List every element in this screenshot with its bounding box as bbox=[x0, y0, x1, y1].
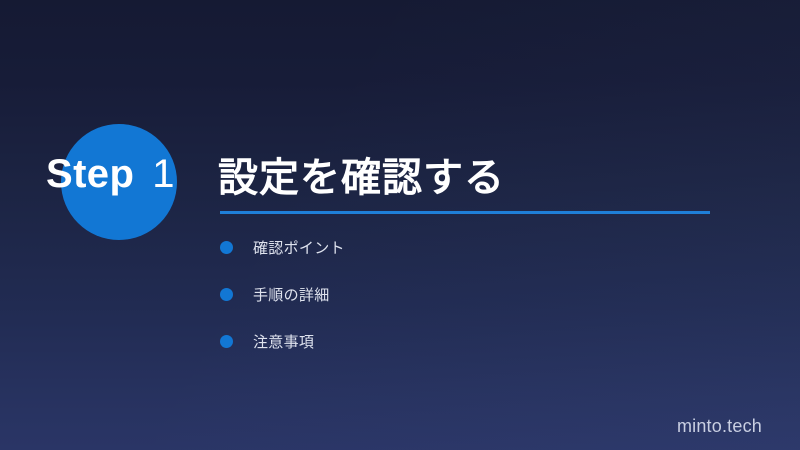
bullet-dot-icon bbox=[220, 288, 233, 301]
title-divider bbox=[220, 211, 710, 214]
bullet-list: 確認ポイント 手順の詳細 注意事項 bbox=[220, 234, 345, 355]
list-item-label: 確認ポイント bbox=[253, 237, 345, 258]
bullet-dot-icon bbox=[220, 335, 233, 348]
step-number: 1 bbox=[152, 152, 175, 196]
footer-brand: minto.tech bbox=[677, 416, 762, 437]
list-item-label: 注意事項 bbox=[253, 331, 314, 352]
list-item-label: 手順の詳細 bbox=[253, 284, 330, 305]
list-item: 注意事項 bbox=[220, 328, 345, 355]
step-label: Step1 bbox=[46, 152, 175, 197]
page-title: 設定を確認する bbox=[218, 145, 505, 203]
slide-canvas: Step1 設定を確認する 確認ポイント 手順の詳細 注意事項 minto.te… bbox=[0, 0, 800, 450]
list-item: 手順の詳細 bbox=[220, 281, 345, 308]
list-item: 確認ポイント bbox=[220, 234, 345, 261]
step-word: Step bbox=[46, 152, 134, 196]
bullet-dot-icon bbox=[220, 241, 233, 254]
